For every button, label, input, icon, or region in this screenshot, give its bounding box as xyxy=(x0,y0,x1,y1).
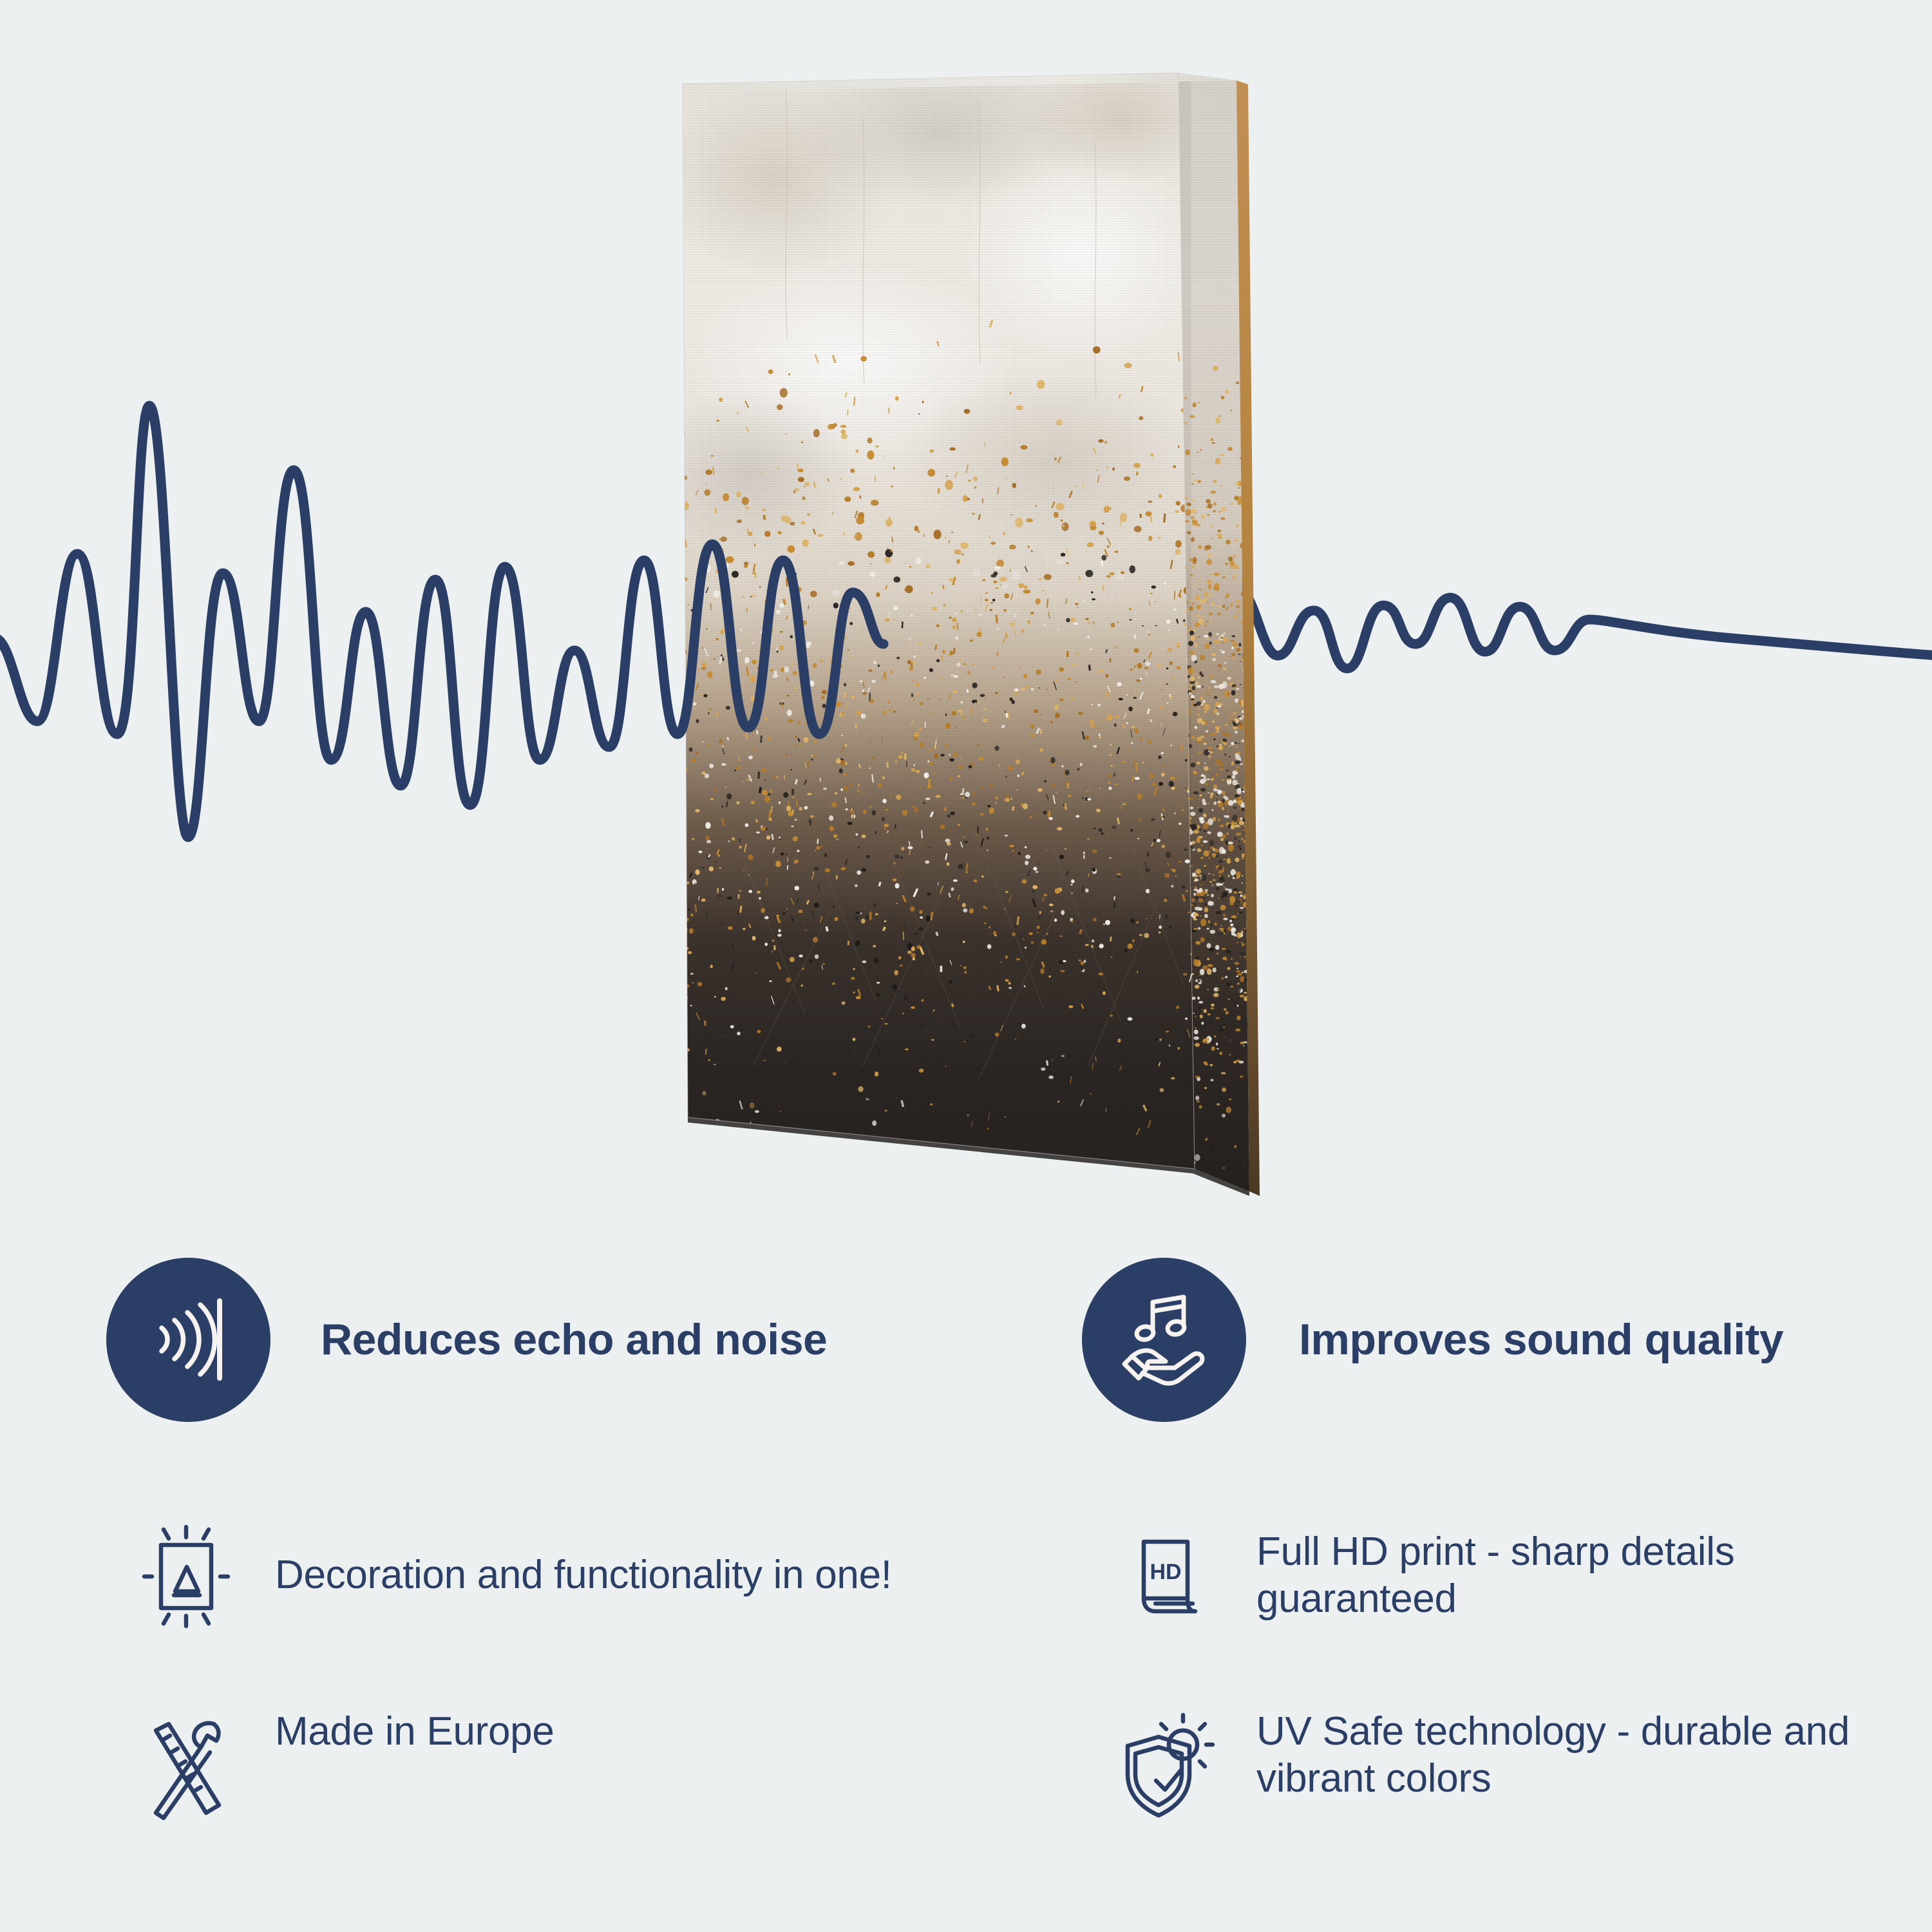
feature-label: Made in Europe xyxy=(275,1708,554,1755)
feature-item-reduces-echo[interactable]: Reduces echo and noise xyxy=(0,1243,1063,1436)
feature-row-primary: Reduces echo and noise xyxy=(0,1243,1932,1436)
feature-label: UV Safe technology - durable and vibrant… xyxy=(1256,1708,1900,1802)
feature-label: Improves sound quality xyxy=(1299,1315,1783,1364)
feature-item-full-hd[interactable]: HD Full HD print - sharp details guarant… xyxy=(1063,1479,1932,1672)
hand-music-note-icon xyxy=(1082,1258,1246,1422)
hd-badge-text: HD xyxy=(1150,1560,1181,1584)
hd-document-icon: HD xyxy=(1110,1516,1229,1635)
feature-item-decoration[interactable]: Decoration and functionality in one! xyxy=(0,1479,1063,1672)
product-infographic: Reduces echo and noise xyxy=(0,0,1932,1932)
feature-row-secondary: Decoration and functionality in one! HD … xyxy=(0,1479,1932,1672)
feature-label: Decoration and functionality in one! xyxy=(275,1551,892,1598)
feature-item-uv-safe[interactable]: UV Safe technology - durable and vibrant… xyxy=(1063,1708,1932,1827)
feature-list: Reduces echo and noise xyxy=(0,1243,1932,1827)
feature-row-third: Made in Europe xyxy=(0,1708,1932,1827)
feature-label: Full HD print - sharp details guaranteed xyxy=(1256,1528,1900,1622)
feature-item-improves-sound[interactable]: Improves sound quality xyxy=(1063,1243,1932,1436)
feature-item-made-in-europe[interactable]: Made in Europe xyxy=(0,1708,1063,1827)
ruler-hammer-icon xyxy=(127,1708,246,1827)
canvas-print-image xyxy=(670,61,1288,1220)
framed-picture-shine-icon xyxy=(127,1516,246,1635)
canvas-print-svg xyxy=(670,61,1288,1220)
uv-shield-sun-icon xyxy=(1110,1708,1229,1827)
sound-wave-panel-icon xyxy=(106,1258,270,1422)
feature-label: Reduces echo and noise xyxy=(321,1315,827,1364)
